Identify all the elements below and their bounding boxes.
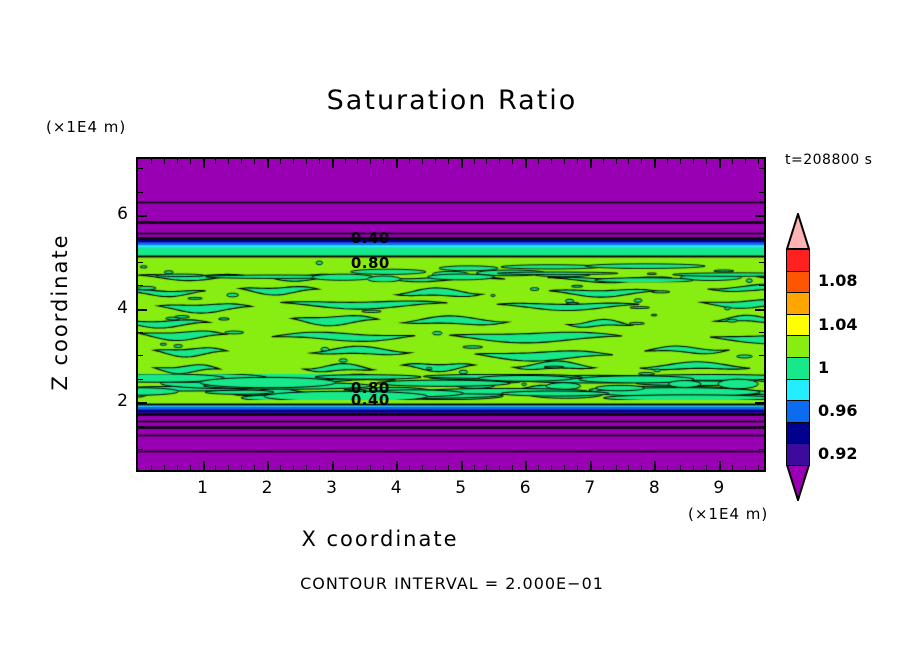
x-tick-minor [499, 465, 500, 470]
x-tick-minor-top [641, 159, 642, 164]
x-tick-minor-top [383, 159, 384, 164]
x-tick-minor-top [577, 159, 578, 164]
x-tick-minor-top [693, 159, 694, 164]
x-tick-minor [474, 465, 475, 470]
y-tick-minor [138, 449, 143, 450]
x-tick-minor-top [538, 159, 539, 164]
x-axis-label: X coordinate [0, 527, 760, 551]
y-tick-minor [138, 355, 143, 356]
colorbar-swatch[interactable] [786, 400, 810, 423]
colorbar-tick-label: 1.04 [818, 315, 857, 334]
x-tick-minor [706, 465, 707, 470]
x-tick-minor [745, 465, 746, 470]
colorbar-swatch[interactable] [786, 249, 810, 272]
x-tick-minor-top [486, 159, 487, 164]
y-tick-minor-right [759, 379, 764, 380]
x-tick-minor-top [603, 159, 604, 164]
x-tick-major [525, 461, 527, 470]
x-tick-minor [254, 465, 255, 470]
x-tick-major-top [654, 159, 656, 168]
x-tick-major [203, 461, 205, 470]
x-tick-minor [357, 465, 358, 470]
x-tick-minor [564, 465, 565, 470]
x-tick-label: 9 [699, 478, 739, 498]
x-tick-label: 4 [376, 478, 416, 498]
x-tick-major-top [332, 159, 334, 168]
x-tick-major-top [461, 159, 463, 168]
x-tick-major [332, 461, 334, 470]
contour-level-label: 0.40 [351, 391, 390, 409]
y-tick-minor [138, 426, 143, 427]
x-tick-minor [190, 465, 191, 470]
y-tick-minor [138, 332, 143, 333]
x-tick-major [267, 461, 269, 470]
x-tick-minor-top [151, 159, 152, 164]
x-tick-minor [151, 465, 152, 470]
y-tick-minor [138, 192, 143, 193]
x-tick-minor-top [215, 159, 216, 164]
x-tick-major-top [719, 159, 721, 168]
x-tick-major [396, 461, 398, 470]
x-tick-minor-top [667, 159, 668, 164]
x-tick-minor-top [409, 159, 410, 164]
x-tick-minor-top [512, 159, 513, 164]
x-tick-major-top [396, 159, 398, 168]
y-tick-minor-right [759, 168, 764, 169]
x-tick-minor-top [564, 159, 565, 164]
colorbar-tick-label: 0.92 [818, 444, 857, 463]
contour-canvas [138, 159, 764, 470]
y-tick-major [138, 215, 147, 217]
x-tick-label: 3 [312, 478, 352, 498]
x-tick-major [461, 461, 463, 470]
x-tick-major-top [203, 159, 205, 168]
x-tick-minor-top [448, 159, 449, 164]
x-tick-minor [345, 465, 346, 470]
y-tick-label: 2 [88, 391, 128, 411]
x-tick-minor [551, 465, 552, 470]
y-tick-minor-right [759, 449, 764, 450]
x-tick-minor [732, 465, 733, 470]
x-tick-minor-top [319, 159, 320, 164]
y-tick-minor [138, 168, 143, 169]
x-tick-minor [628, 465, 629, 470]
x-tick-label: 6 [505, 478, 545, 498]
contour-plot[interactable]: 0.400.800.800.40 [136, 157, 766, 472]
x-tick-minor [228, 465, 229, 470]
x-tick-major-top [525, 159, 527, 168]
x-tick-minor [603, 465, 604, 470]
x-tick-minor [758, 465, 759, 470]
x-tick-minor [641, 465, 642, 470]
y-tick-major-right [755, 402, 764, 404]
y-tick-minor-right [759, 355, 764, 356]
x-tick-minor [538, 465, 539, 470]
x-tick-major-top [267, 159, 269, 168]
y-axis-label: Z coordinate [48, 212, 72, 412]
x-tick-minor-top [370, 159, 371, 164]
contour-canvas-wrap [138, 159, 764, 470]
colorbar[interactable]: 1.081.0410.960.92 [786, 213, 810, 501]
y-tick-minor-right [759, 262, 764, 263]
colorbar-swatch[interactable] [786, 357, 810, 380]
x-tick-minor [435, 465, 436, 470]
x-tick-minor [383, 465, 384, 470]
y-tick-minor [138, 285, 143, 286]
x-tick-minor-top [306, 159, 307, 164]
x-tick-minor [241, 465, 242, 470]
x-tick-minor [422, 465, 423, 470]
y-tick-minor-right [759, 192, 764, 193]
y-tick-minor-right [759, 332, 764, 333]
y-tick-label: 6 [88, 204, 128, 224]
timestamp-label: t=208800 s [785, 152, 872, 168]
x-tick-minor [616, 465, 617, 470]
y-tick-major [138, 309, 147, 311]
x-tick-minor-top [745, 159, 746, 164]
x-tick-label: 2 [247, 478, 287, 498]
y-tick-minor-right [759, 285, 764, 286]
y-tick-minor [138, 379, 143, 380]
x-tick-minor [293, 465, 294, 470]
colorbar-swatch[interactable] [786, 335, 810, 358]
x-tick-minor [177, 465, 178, 470]
x-tick-minor [164, 465, 165, 470]
y-tick-major [138, 402, 147, 404]
chart-title: Saturation Ratio [0, 85, 904, 116]
x-tick-minor [577, 465, 578, 470]
x-tick-minor-top [228, 159, 229, 164]
x-tick-label: 1 [183, 478, 223, 498]
y-tick-label: 4 [88, 298, 128, 318]
x-tick-minor [680, 465, 681, 470]
x-tick-major [719, 461, 721, 470]
colorbar-cap-bottom [786, 465, 810, 501]
x-tick-minor [486, 465, 487, 470]
x-tick-minor-top [254, 159, 255, 164]
x-tick-minor-top [241, 159, 242, 164]
x-tick-minor-top [190, 159, 191, 164]
x-tick-minor [215, 465, 216, 470]
x-tick-minor [280, 465, 281, 470]
x-tick-minor-top [758, 159, 759, 164]
x-tick-minor-top [177, 159, 178, 164]
contour-level-label: 0.80 [351, 254, 390, 272]
x-tick-label: 7 [570, 478, 610, 498]
colorbar-tick-label: 1.08 [818, 271, 857, 290]
x-tick-minor-top [706, 159, 707, 164]
x-tick-minor-top [499, 159, 500, 164]
y-tick-minor-right [759, 239, 764, 240]
colorbar-swatch[interactable] [786, 422, 810, 445]
colorbar-tick-label: 0.96 [818, 401, 857, 420]
x-tick-minor [512, 465, 513, 470]
colorbar-swatch[interactable] [786, 379, 810, 402]
x-tick-minor-top [293, 159, 294, 164]
colorbar-swatch[interactable] [786, 271, 810, 294]
x-tick-minor-top [628, 159, 629, 164]
x-tick-minor-top [164, 159, 165, 164]
x-tick-minor-top [357, 159, 358, 164]
colorbar-cap-top [786, 213, 810, 249]
y-tick-minor [138, 262, 143, 263]
x-tick-label: 8 [634, 478, 674, 498]
y-axis-unit: (×1E4 m) [46, 118, 126, 136]
x-tick-minor-top [422, 159, 423, 164]
y-tick-minor [138, 239, 143, 240]
x-tick-minor [319, 465, 320, 470]
x-tick-minor-top [280, 159, 281, 164]
x-tick-minor [448, 465, 449, 470]
x-tick-minor-top [732, 159, 733, 164]
colorbar-swatch[interactable] [786, 443, 810, 466]
x-tick-minor-top [345, 159, 346, 164]
x-tick-minor-top [474, 159, 475, 164]
y-tick-minor-right [759, 426, 764, 427]
y-tick-major-right [755, 215, 764, 217]
x-tick-major [590, 461, 592, 470]
x-tick-minor-top [551, 159, 552, 164]
x-tick-minor [409, 465, 410, 470]
x-tick-minor [370, 465, 371, 470]
x-tick-major-top [590, 159, 592, 168]
colorbar-tick-label: 1 [818, 358, 829, 377]
x-tick-minor [693, 465, 694, 470]
x-tick-minor [667, 465, 668, 470]
contour-level-label: 0.40 [351, 229, 390, 247]
colorbar-swatch[interactable] [786, 292, 810, 315]
x-tick-minor-top [616, 159, 617, 164]
colorbar-swatch[interactable] [786, 314, 810, 337]
y-tick-major-right [755, 309, 764, 311]
contour-interval-caption: CONTOUR INTERVAL = 2.000E−01 [0, 574, 904, 593]
x-axis-unit: (×1E4 m) [688, 505, 768, 523]
x-tick-major [654, 461, 656, 470]
x-tick-minor-top [680, 159, 681, 164]
x-tick-minor [306, 465, 307, 470]
x-tick-minor-top [435, 159, 436, 164]
x-tick-label: 5 [441, 478, 481, 498]
